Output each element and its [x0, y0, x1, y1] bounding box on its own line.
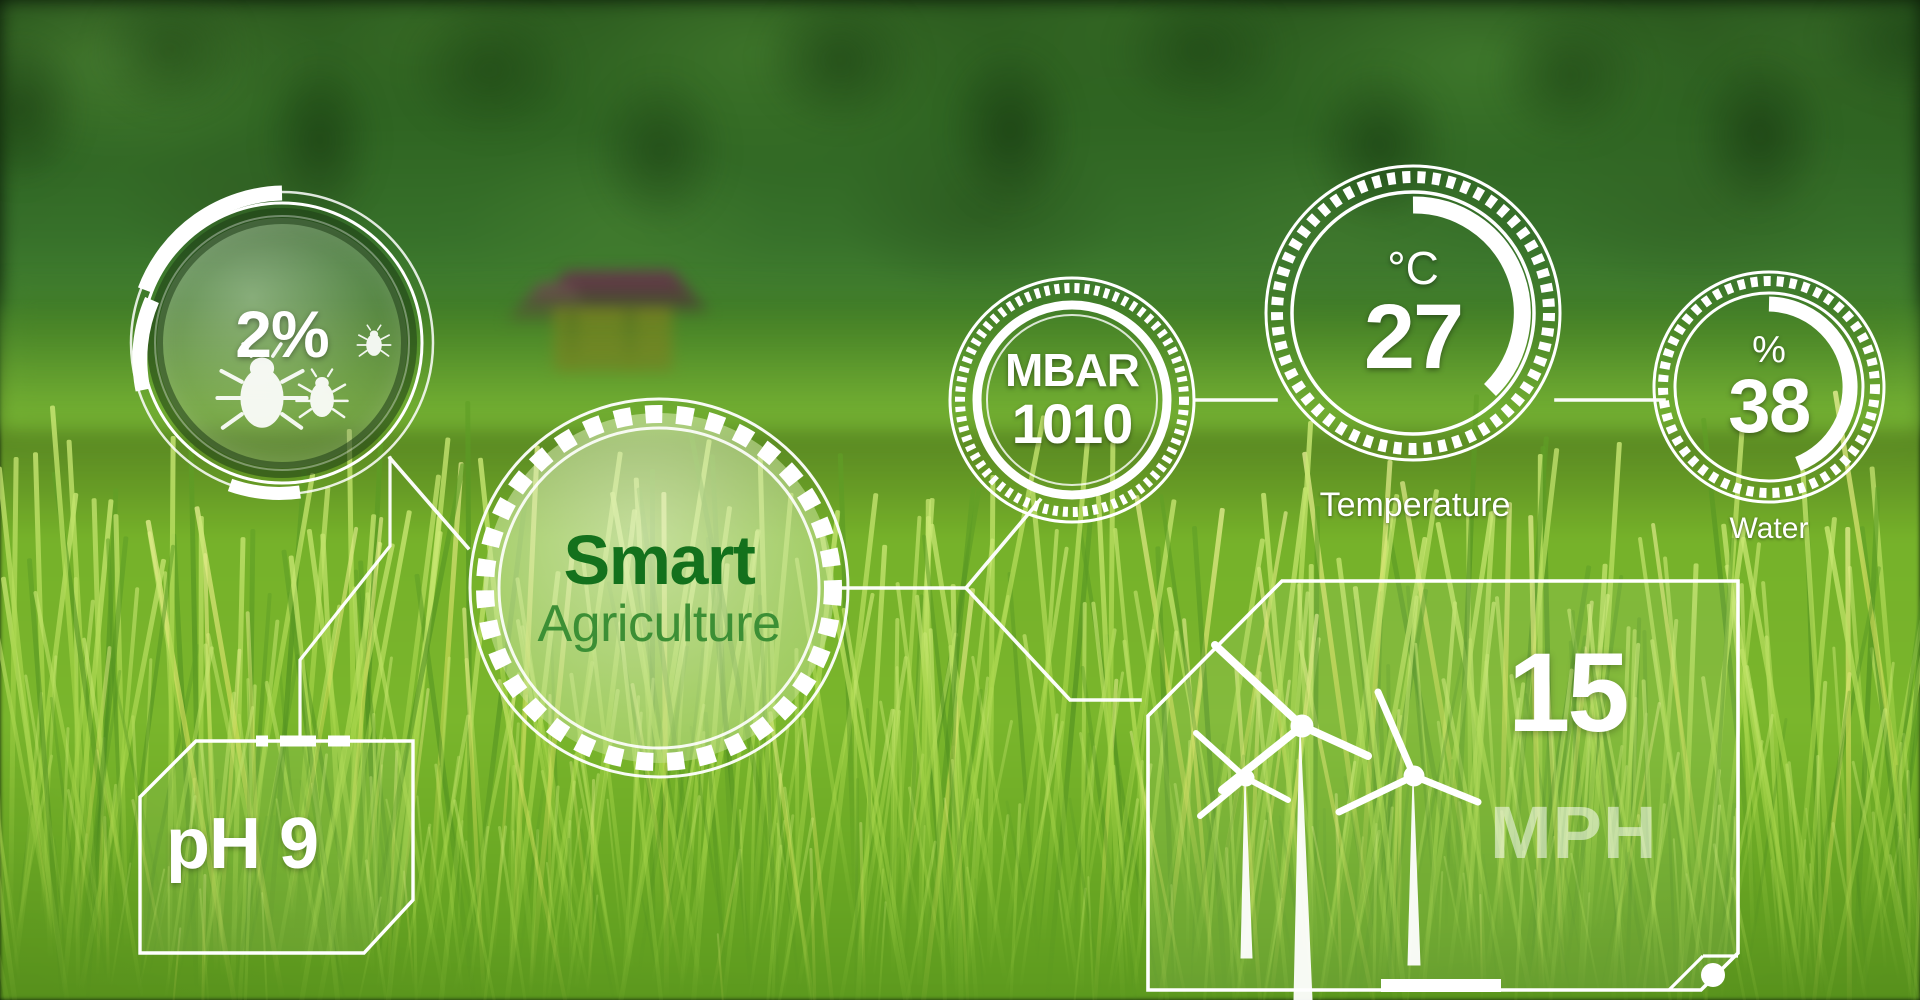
hud-overlay: 2%: [0, 0, 1920, 1000]
screenshot-canvas: 2%: [0, 0, 1920, 1000]
wind-speed-unit: MPH: [1490, 796, 1657, 870]
panel-bottom-bar: [1381, 979, 1501, 992]
wind-speed-value: 15: [1508, 637, 1627, 749]
status-dot: [1701, 963, 1725, 987]
